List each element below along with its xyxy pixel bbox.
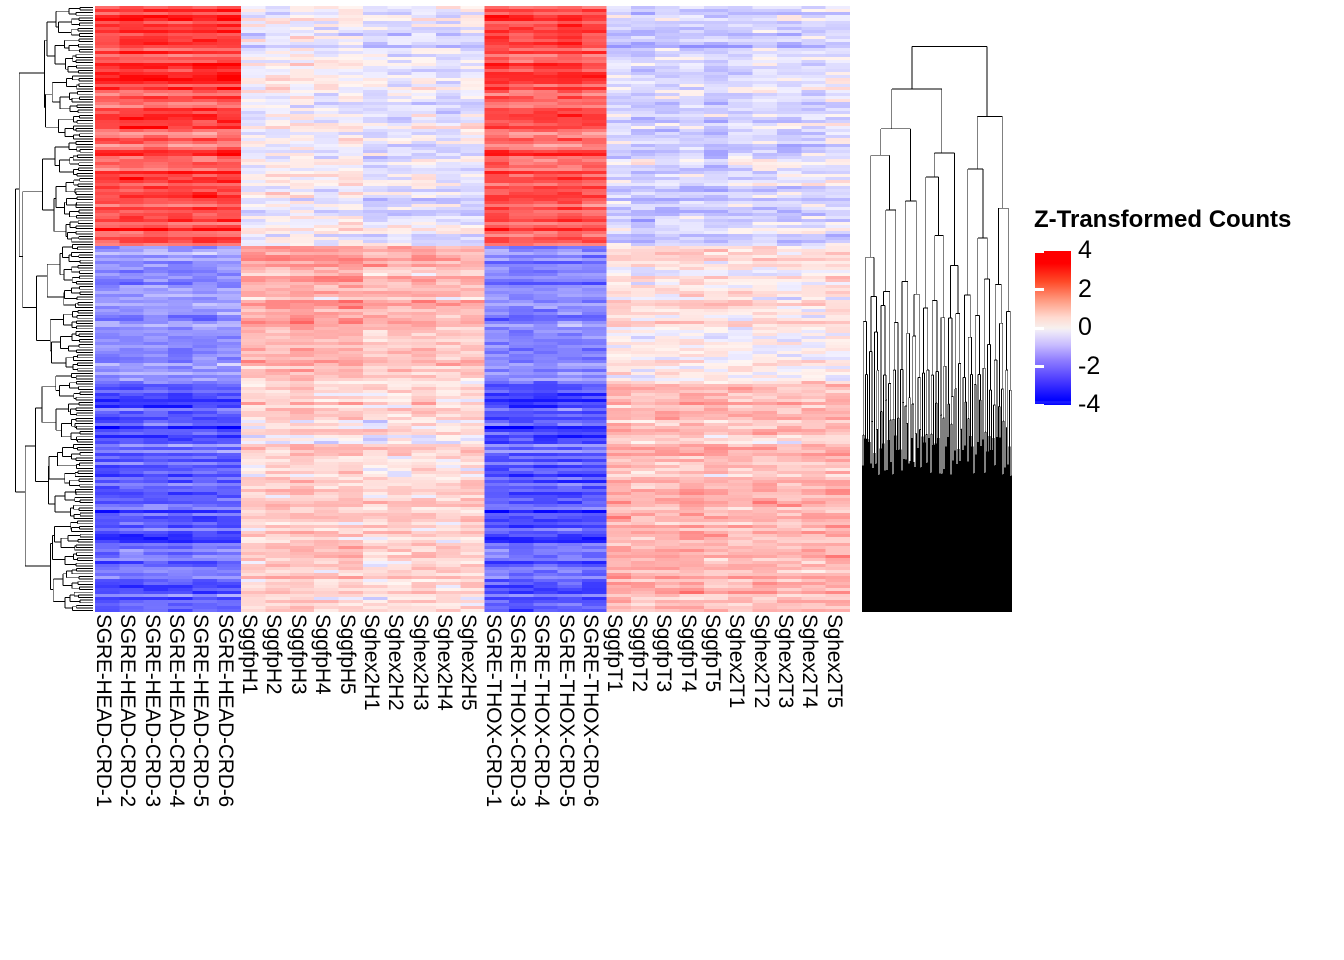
- column-label: SGRE-HEAD-CRD-3: [142, 614, 163, 807]
- heatmap-matrix[interactable]: [95, 6, 850, 612]
- colorbar-tick-mark: [1035, 327, 1044, 330]
- column-label: SGRE-THOX-CRD-3: [507, 614, 528, 807]
- colorbar-tick-mark: [1024, 288, 1033, 291]
- colorbar-tick-label: -4: [1078, 392, 1100, 417]
- column-label: Sghex2T5: [824, 614, 845, 708]
- column-label: Sghex2H5: [458, 614, 479, 710]
- column-label: SGRE-HEAD-CRD-4: [166, 614, 187, 807]
- column-label: Sghex2H2: [385, 614, 406, 710]
- heatmap-canvas[interactable]: [95, 6, 850, 612]
- column-label: SggfpH3: [288, 614, 309, 694]
- column-label: Sghex2H4: [434, 614, 455, 710]
- column-label: Sghex2H3: [410, 614, 431, 710]
- column-label: SggfpH1: [239, 614, 260, 694]
- colorbar-tick-mark: [1035, 365, 1044, 368]
- heatmap-figure: SGRE-HEAD-CRD-1SGRE-HEAD-CRD-2SGRE-HEAD-…: [0, 0, 1344, 960]
- column-label: SggfpT1: [604, 614, 625, 692]
- row-dendrogram-svg: [14, 6, 93, 612]
- row-dendrogram: [14, 6, 93, 612]
- column-labels: SGRE-HEAD-CRD-1SGRE-HEAD-CRD-2SGRE-HEAD-…: [95, 614, 850, 934]
- column-label: SGRE-THOX-CRD-1: [483, 614, 504, 807]
- column-label: SGRE-HEAD-CRD-5: [190, 614, 211, 807]
- column-label: SGRE-HEAD-CRD-2: [117, 614, 138, 807]
- colorbar-tick-mark: [1035, 288, 1044, 291]
- column-label: SggfpH5: [337, 614, 358, 694]
- column-label: SggfpH4: [312, 614, 333, 694]
- column-label: SGRE-THOX-CRD-6: [580, 614, 601, 807]
- colorbar-tick-label: 4: [1078, 238, 1092, 263]
- column-label: Sghex2T1: [726, 614, 747, 708]
- colorbar-tick-label: 0: [1078, 315, 1092, 340]
- column-label: SggfpT5: [702, 614, 723, 692]
- column-label: SggfpH2: [263, 614, 284, 694]
- colorbar-tick-mark: [1024, 404, 1033, 407]
- colorbar-tick-mark: [1024, 327, 1033, 330]
- colorbar-tick-mark: [1035, 250, 1044, 253]
- column-label: SGRE-THOX-CRD-4: [531, 614, 552, 807]
- column-dendrogram-svg: [862, 6, 1012, 612]
- colorbar-tick-label: -2: [1078, 354, 1100, 379]
- column-label: SggfpT4: [678, 614, 699, 692]
- colorbar-tick-mark: [1024, 365, 1033, 368]
- colorbar-title: Z-Transformed Counts: [1034, 206, 1291, 234]
- column-label: SGRE-HEAD-CRD-6: [215, 614, 236, 807]
- column-label: Sghex2T4: [799, 614, 820, 708]
- column-label: Sghex2H1: [361, 614, 382, 710]
- column-label: Sghex2T2: [751, 614, 772, 708]
- colorbar-tick-label: 2: [1078, 277, 1092, 302]
- column-label: SggfpT3: [653, 614, 674, 692]
- colorbar-tick-mark: [1035, 404, 1044, 407]
- column-label: Sghex2T3: [775, 614, 796, 708]
- column-label: SGRE-HEAD-CRD-1: [93, 614, 114, 807]
- colorbar-tick-mark: [1024, 250, 1033, 253]
- column-label: SggfpT2: [629, 614, 650, 692]
- column-dendrogram: [862, 6, 1012, 612]
- column-label: SGRE-THOX-CRD-5: [556, 614, 577, 807]
